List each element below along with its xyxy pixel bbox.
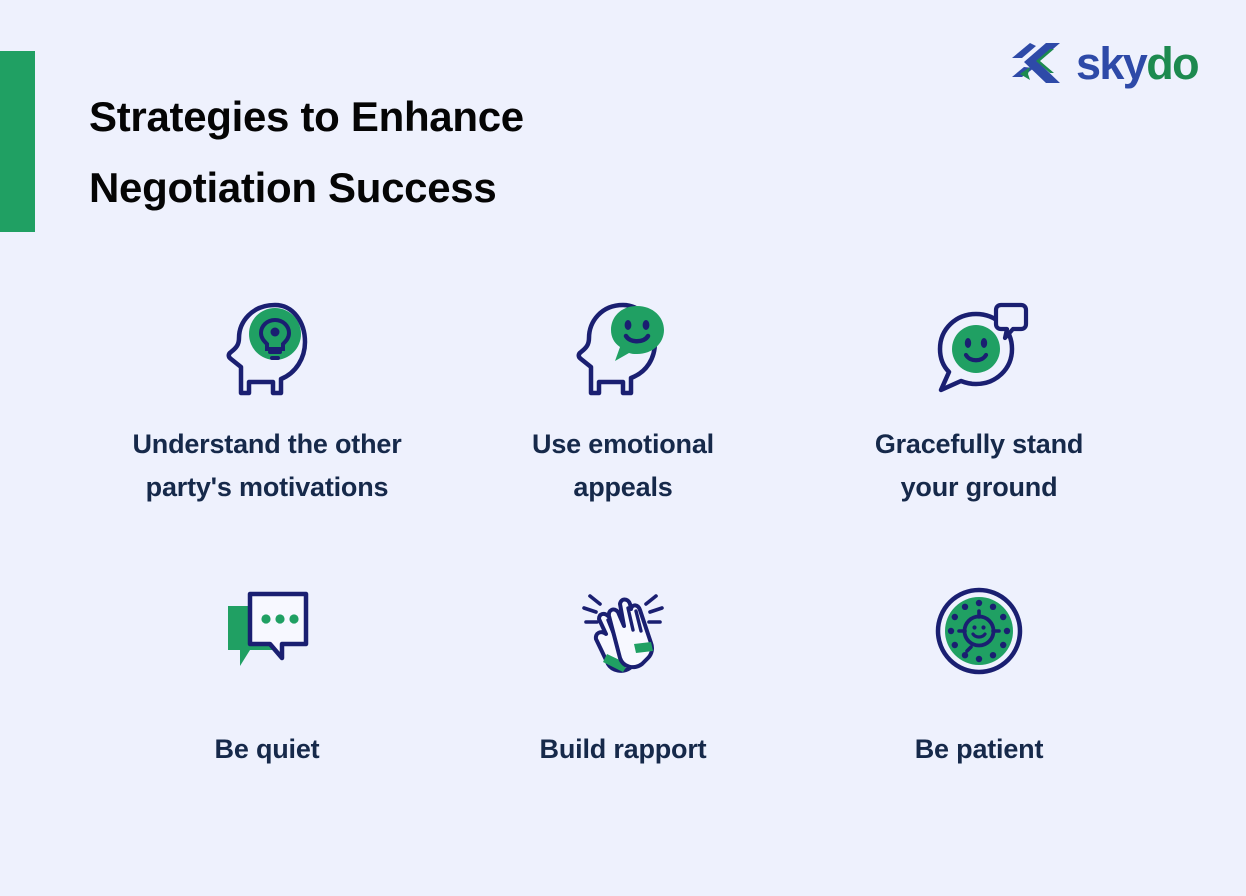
strategy-label-line-2: appeals — [573, 472, 672, 502]
strategy-label: Gracefully stand your ground — [875, 423, 1083, 510]
strategy-label-line-1: Understand the other — [132, 429, 401, 459]
strategy-label: Be quiet — [215, 728, 320, 772]
strategy-card-build-rapport: Build rapport — [445, 576, 801, 786]
strategy-label: Build rapport — [540, 728, 707, 772]
page-title-line-1: Strategies to Enhance — [89, 82, 729, 153]
logo-word-sky: sky — [1076, 38, 1146, 89]
strategy-label-line-2: party's motivations — [146, 472, 389, 502]
page-title-line-2: Negotiation Success — [89, 153, 729, 224]
page-title: Strategies to Enhance Negotiation Succes… — [89, 82, 729, 223]
clapping-hands-icon — [578, 576, 668, 686]
strategy-label: Understand the other party's motivations — [132, 423, 401, 510]
strategy-label-line-1: Be quiet — [215, 734, 320, 764]
skydo-wordmark: skydo — [1076, 41, 1198, 86]
strategy-grid: Understand the other party's motivations… — [89, 300, 1157, 786]
strategy-label: Use emotional appeals — [532, 423, 714, 510]
strategy-label-line-1: Gracefully stand — [875, 429, 1083, 459]
chat-bubbles-ellipsis-icon — [222, 576, 312, 686]
head-smiley-speech-bubble-icon — [577, 300, 669, 397]
title-accent-bar — [0, 51, 35, 232]
strategy-card-be-patient: Be patient — [801, 576, 1157, 786]
skydo-logo[interactable]: skydo — [1010, 37, 1198, 89]
strategy-card-stand-your-ground: Gracefully stand your ground — [801, 300, 1157, 510]
skydo-chevron-mark — [1010, 41, 1066, 85]
strategy-label-line-1: Be patient — [915, 734, 1044, 764]
strategy-card-understand-motivations: Understand the other party's motivations — [89, 300, 445, 510]
clock-smiley-icon — [935, 576, 1023, 686]
strategy-card-be-quiet: Be quiet — [89, 576, 445, 786]
strategy-label-line-2: your ground — [901, 472, 1058, 502]
strategy-label-line-1: Use emotional — [532, 429, 714, 459]
head-lightbulb-icon — [225, 300, 309, 397]
strategy-label-line-1: Build rapport — [540, 734, 707, 764]
strategy-card-emotional-appeals: Use emotional appeals — [445, 300, 801, 510]
logo-word-do: do — [1146, 38, 1198, 89]
strategy-label: Be patient — [915, 728, 1044, 772]
speech-bubble-smiley-icon — [931, 300, 1027, 397]
